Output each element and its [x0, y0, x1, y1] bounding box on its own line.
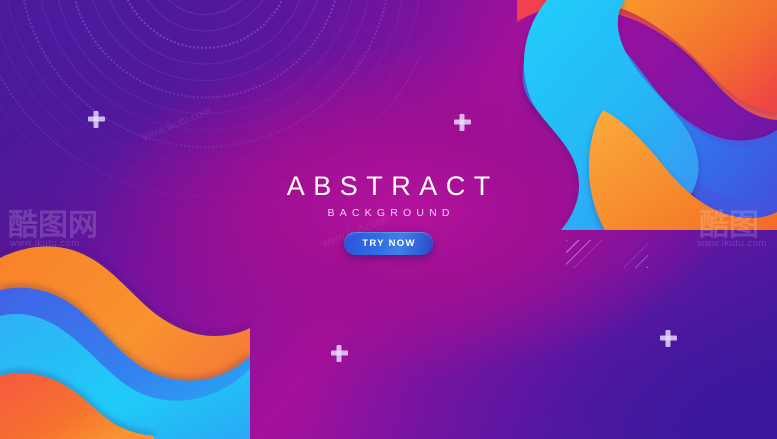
wave-layer-orange: [0, 246, 250, 439]
wave-layer-red: [517, 0, 777, 120]
dotted-arc-ring: [0, 0, 420, 198]
dotted-arc-ring: [118, 0, 292, 49]
dotted-arc-ring: [69, 0, 342, 99]
dotted-arc-ring: [4, 0, 407, 164]
wave-layer-blue: [0, 288, 250, 439]
wave-layer-orange: [603, 0, 777, 112]
dotted-arc-ring: [53, 0, 357, 114]
dotted-arc-ring: [103, 0, 308, 65]
page-subtitle: BACKGROUND: [0, 207, 777, 219]
page-title: ABSTRACT: [0, 172, 777, 200]
dotted-arc-ring: [152, 0, 258, 15]
plus-right-icon: [660, 330, 677, 347]
dotted-arc-ring: [37, 0, 374, 131]
wave-layer-cyan: [0, 314, 250, 439]
dotted-arc-ring: [86, 0, 324, 81]
wave-layer-red-lower: [0, 373, 154, 439]
dotted-arc-ring: [136, 0, 275, 32]
plus-center-bottom-icon: [331, 345, 348, 362]
dotted-arc-ring: [19, 0, 391, 148]
dotted-arc-ring: [0, 0, 420, 180]
plus-center-top-icon: [454, 114, 471, 131]
hero-content: ABSTRACT BACKGROUND TRY NOW: [0, 172, 777, 255]
abstract-background-banner: ABSTRACT BACKGROUND TRY NOW 酷图网 www.ikut…: [0, 0, 777, 439]
try-now-button[interactable]: TRY NOW: [344, 232, 432, 255]
